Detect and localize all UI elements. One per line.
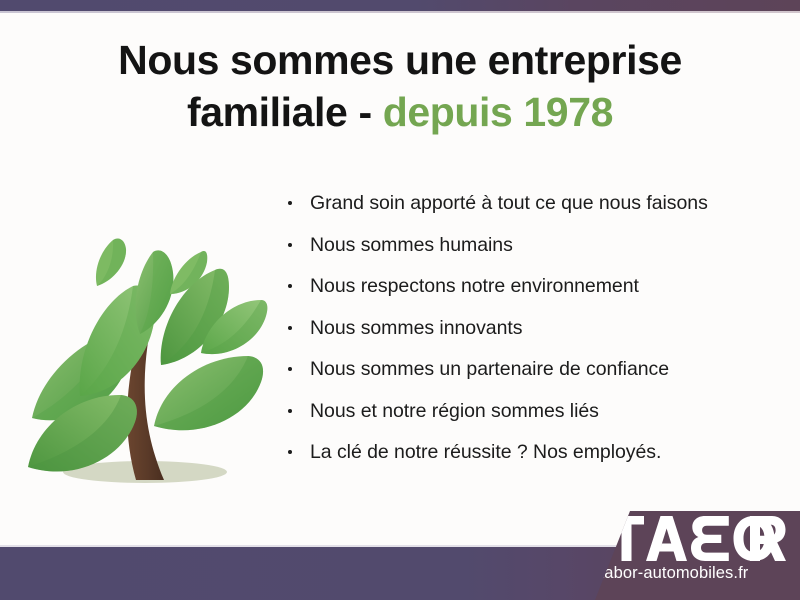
list-item: Nous sommes innovants [285, 317, 765, 340]
slide: Nous sommes une entreprise familiale - d… [0, 0, 800, 600]
list-item-label: Nous sommes humains [310, 234, 513, 256]
bullet-dot-icon [288, 409, 292, 413]
bullet-dot-icon [288, 243, 292, 247]
page-title: Nous sommes une entreprise familiale - d… [40, 34, 760, 139]
list-item-label: Nous et notre région sommes liés [310, 400, 599, 422]
list-item-label: Nous sommes innovants [310, 317, 522, 339]
list-item-label: Grand soin apporté à tout ce que nous fa… [310, 192, 708, 214]
bullet-dot-icon [288, 326, 292, 330]
tree-icon [18, 182, 280, 494]
top-accent-bar [0, 0, 800, 11]
list-item: Nous respectons notre environnement [285, 275, 765, 298]
list-item: Nous sommes un partenaire de confiance [285, 358, 765, 381]
bullet-dot-icon [288, 201, 292, 205]
value-proposition-list: Grand soin apporté à tout ce que nous fa… [285, 192, 765, 464]
list-item: Nous et notre région sommes liés [285, 400, 765, 423]
headline-line-2-plain: familiale - [187, 89, 383, 135]
tabor-wordmark-logo [608, 516, 788, 561]
headline-line-2-accent: depuis 1978 [383, 89, 613, 135]
bullet-dot-icon [288, 450, 292, 454]
bullet-dot-icon [288, 367, 292, 371]
headline-line-1: Nous sommes une entreprise [118, 37, 682, 83]
list-item-label: Nous respectons notre environnement [310, 275, 639, 297]
list-item: Nous sommes humains [285, 234, 765, 257]
list-item-label: Nous sommes un partenaire de confiance [310, 358, 669, 380]
top-bar-hairline [0, 11, 800, 13]
list-item: La clé de notre réussite ? Nos employés. [285, 441, 765, 464]
list-item-label: La clé de notre réussite ? Nos employés. [310, 441, 661, 463]
list-item: Grand soin apporté à tout ce que nous fa… [285, 192, 765, 215]
bullet-dot-icon [288, 284, 292, 288]
